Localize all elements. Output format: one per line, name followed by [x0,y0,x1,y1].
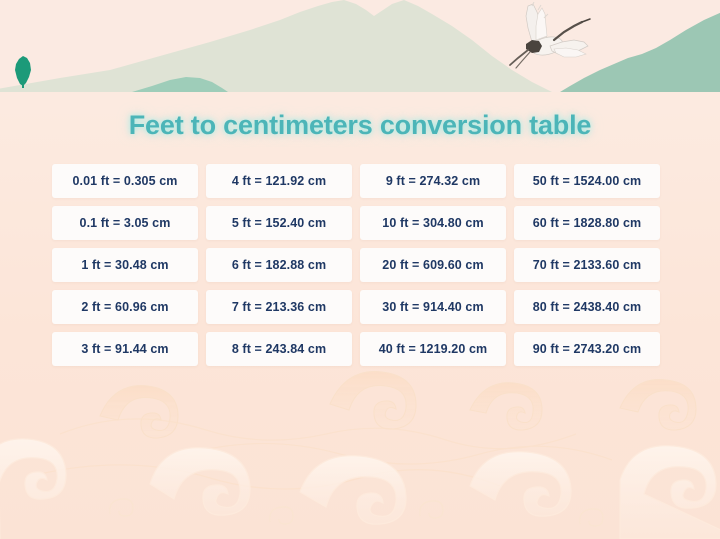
auspicious-cloud-pattern [0,364,720,539]
table-cell: 10 ft = 304.80 cm [360,206,506,240]
table-cell: 2 ft = 60.96 cm [52,290,198,324]
table-cell: 1 ft = 30.48 cm [52,248,198,282]
tree-trunk [22,82,24,88]
table-cell: 40 ft = 1219.20 cm [360,332,506,366]
mountain-shape [0,0,552,92]
table-cell: 90 ft = 2743.20 cm [514,332,660,366]
table-cell: 7 ft = 213.36 cm [206,290,352,324]
table-cell: 20 ft = 609.60 cm [360,248,506,282]
table-cell: 0.01 ft = 0.305 cm [52,164,198,198]
conversion-table: 0.01 ft = 0.305 cm 4 ft = 121.92 cm 9 ft… [52,164,660,366]
tree-shape [15,56,31,86]
table-cell: 6 ft = 182.88 cm [206,248,352,282]
table-cell: 0.1 ft = 3.05 cm [52,206,198,240]
table-cell: 8 ft = 243.84 cm [206,332,352,366]
table-cell: 70 ft = 2133.60 cm [514,248,660,282]
slide-canvas: Feet to centimeters conversion table 0.0… [0,0,720,539]
page-title: Feet to centimeters conversion table [0,110,720,141]
table-cell: 9 ft = 274.32 cm [360,164,506,198]
table-cell: 5 ft = 152.40 cm [206,206,352,240]
crane-bird-icon [492,2,598,80]
table-cell: 4 ft = 121.92 cm [206,164,352,198]
table-cell: 80 ft = 2438.40 cm [514,290,660,324]
table-cell: 50 ft = 1524.00 cm [514,164,660,198]
table-cell: 3 ft = 91.44 cm [52,332,198,366]
header-scenery [0,0,720,92]
table-cell: 60 ft = 1828.80 cm [514,206,660,240]
table-cell: 30 ft = 914.40 cm [360,290,506,324]
